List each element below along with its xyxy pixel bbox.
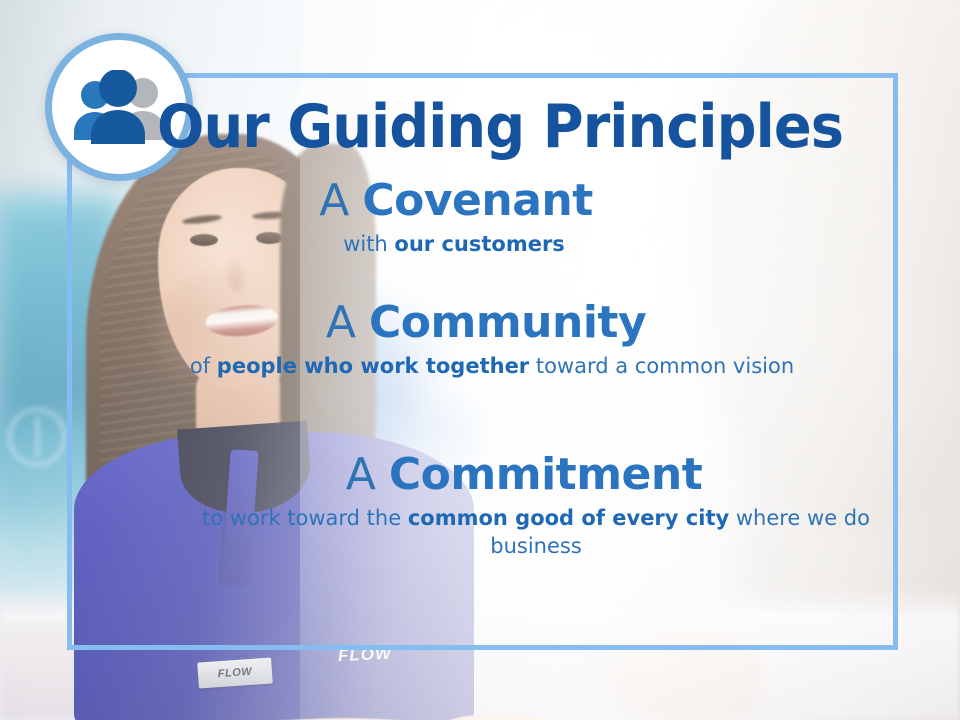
page-title: Our Guiding Principles — [147, 97, 854, 157]
principle-subtext-2: of people who work together toward a com… — [120, 353, 880, 381]
guiding-principles-banner: FLOW FLOW Our Guiding Principles — [0, 0, 960, 720]
principle-block-3: A Commitment to work toward the common g… — [120, 453, 880, 561]
principle-keyword-1: Covenant — [362, 175, 592, 226]
principle-block-1: A Covenant with our customers — [120, 179, 880, 259]
principle-article-2: A — [326, 297, 356, 348]
principle-heading-1: A Covenant — [120, 179, 880, 224]
principle-block-2: A Community of people who work together … — [120, 301, 880, 381]
text-content: Our Guiding Principles A Covenant with o… — [120, 73, 880, 650]
principle-keyword-3: Commitment — [389, 449, 702, 500]
principle-keyword-2: Community — [369, 297, 646, 348]
principle-subtext-1: with our customers — [120, 231, 880, 259]
principle-article-3: A — [346, 449, 376, 500]
principle-heading-3: A Commitment — [120, 453, 880, 498]
principle-article-1: A — [319, 175, 349, 226]
principle-subtext-3: to work toward the common good of every … — [120, 505, 880, 561]
principle-heading-2: A Community — [120, 301, 880, 346]
